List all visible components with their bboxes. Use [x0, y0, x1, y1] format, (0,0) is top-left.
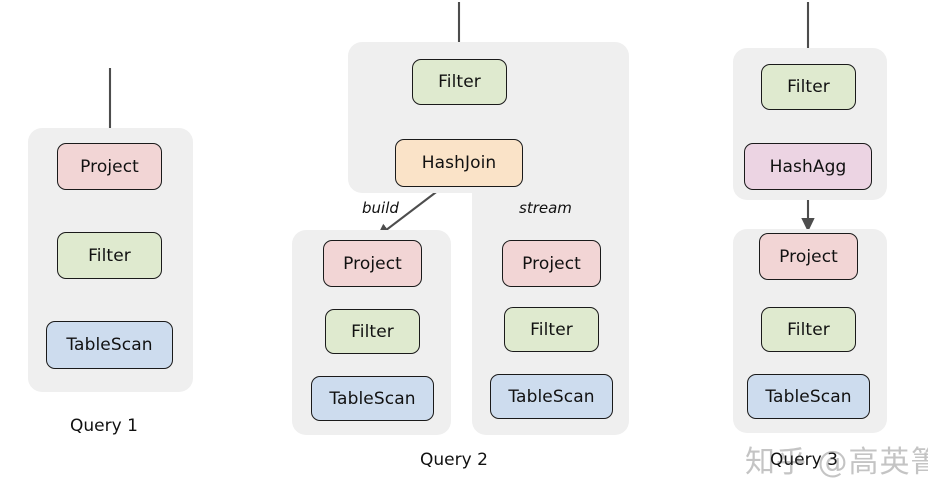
node-filter[interactable]: Filter	[761, 307, 856, 352]
node-hashjoin[interactable]: HashJoin	[395, 139, 523, 187]
zhihu-watermark: 知乎 @高英箐	[745, 437, 928, 481]
node-project[interactable]: Project	[759, 233, 858, 280]
node-tablescan[interactable]: TableScan	[747, 374, 870, 419]
node-hashagg[interactable]: HashAgg	[744, 143, 872, 190]
node-filter[interactable]: Filter	[57, 232, 162, 279]
node-tablescan[interactable]: TableScan	[311, 376, 434, 421]
node-project[interactable]: Project	[502, 240, 601, 287]
node-project[interactable]: Project	[323, 240, 422, 287]
node-tablescan[interactable]: TableScan	[490, 374, 613, 419]
node-tablescan[interactable]: TableScan	[46, 321, 173, 369]
node-filter[interactable]: Filter	[504, 307, 599, 352]
edge-label-stream: stream	[519, 199, 572, 217]
diagram-canvas: Project Filter TableScan Query 1 Filter …	[0, 0, 928, 491]
node-filter[interactable]: Filter	[325, 309, 420, 354]
edge-label-build: build	[362, 199, 399, 217]
node-filter[interactable]: Filter	[412, 59, 507, 105]
node-filter[interactable]: Filter	[761, 64, 856, 110]
query2-caption: Query 2	[420, 450, 488, 470]
node-project[interactable]: Project	[57, 143, 162, 190]
query1-caption: Query 1	[70, 416, 138, 436]
